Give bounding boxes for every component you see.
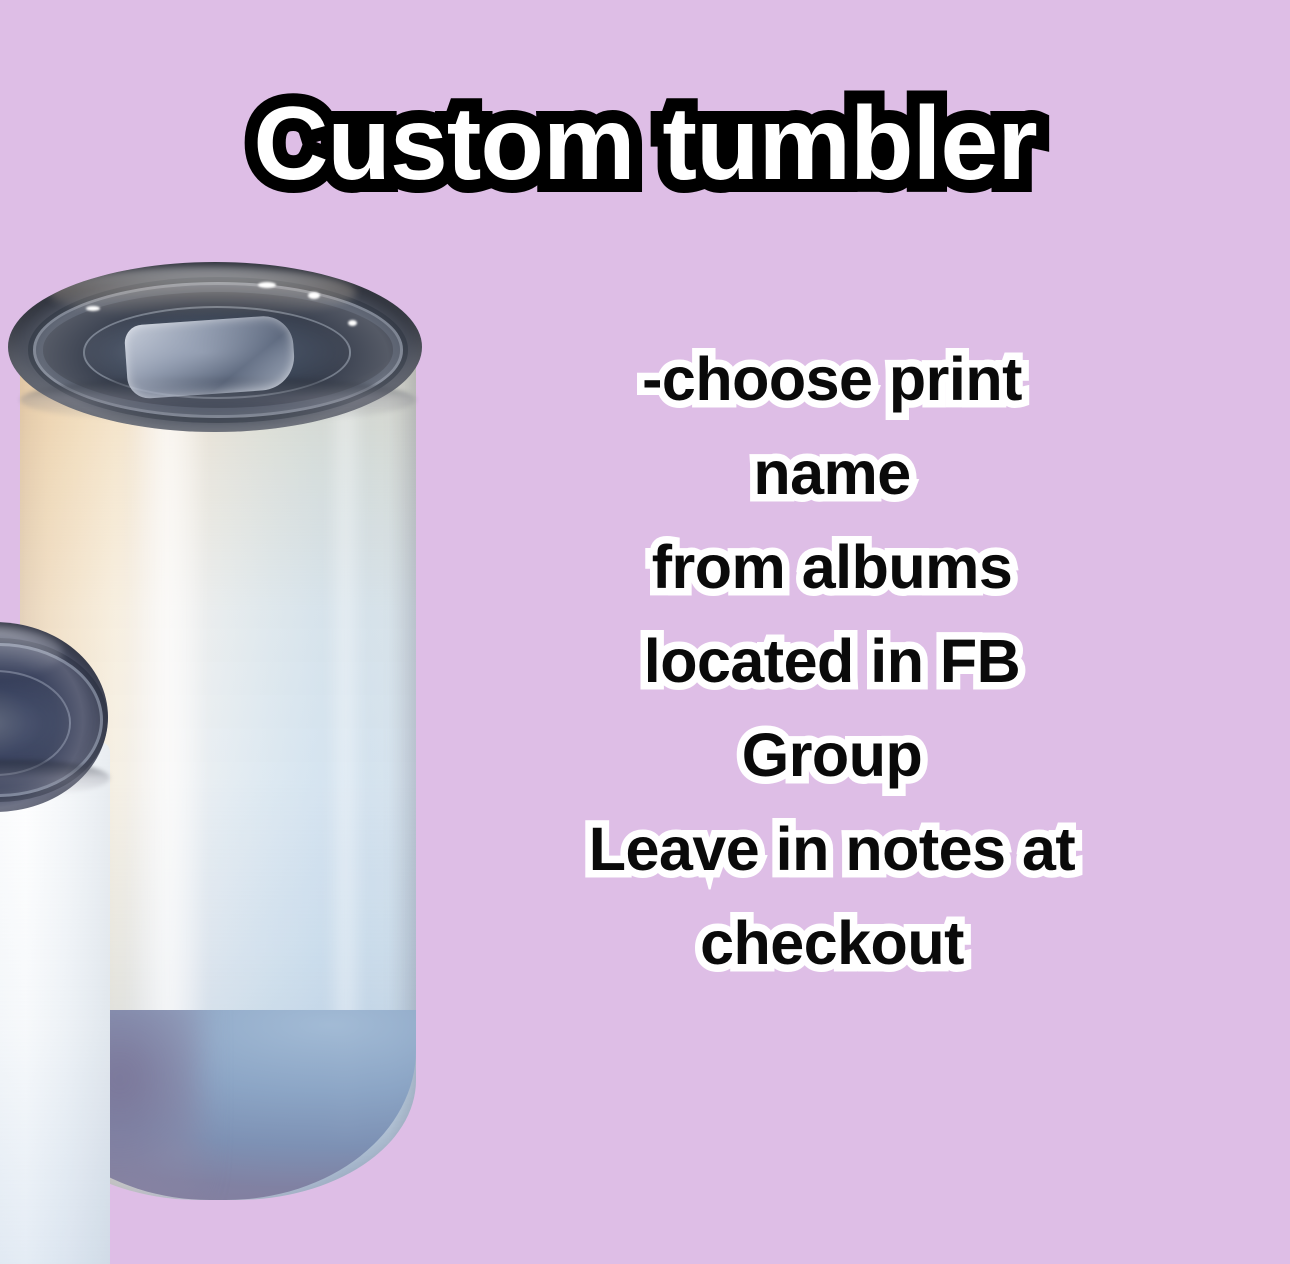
tall-tumbler-lid-sparkle xyxy=(86,306,100,311)
instruction-line: checkout xyxy=(516,896,1148,990)
instruction-line: Group xyxy=(516,708,1148,802)
instruction-line: located in FB xyxy=(516,614,1148,708)
tall-tumbler-lid-sparkle xyxy=(348,320,357,326)
short-tumbler-body-shading xyxy=(0,742,110,1264)
instruction-list: -choose print name from albums located i… xyxy=(516,332,1148,990)
instruction-line: from albums xyxy=(516,520,1148,614)
page-title: Custom tumbler xyxy=(0,92,1290,196)
instruction-line: name xyxy=(516,426,1148,520)
short-tumbler-lid-gloss xyxy=(0,626,63,679)
tall-tumbler-lid-slider xyxy=(124,314,297,400)
instruction-line: -choose print xyxy=(516,332,1148,426)
short-tumbler-image xyxy=(0,622,110,1264)
promo-graphic-canvas: Custom tumbler -choose print name from a… xyxy=(0,0,1290,1264)
tall-tumbler-lid-sparkle xyxy=(308,292,320,299)
instruction-line: Leave in notes at xyxy=(516,802,1148,896)
tall-tumbler-lid-sparkle xyxy=(258,282,276,288)
